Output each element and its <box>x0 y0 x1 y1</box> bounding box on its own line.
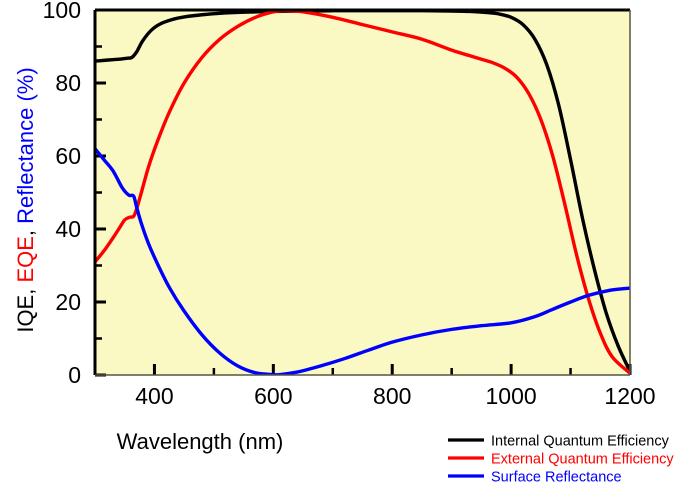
y-tick-label: 20 <box>55 289 81 315</box>
chart-canvas: 020406080100 40060080010001200 IQE, EQE,… <box>0 0 689 487</box>
legend-label-0: Internal Quantum Efficiency <box>491 434 670 450</box>
y-axis-title-segment-0: IQE <box>13 295 38 333</box>
plot-background <box>95 10 630 375</box>
x-axis-title: Wavelength (nm) <box>117 429 284 454</box>
x-tick-label: 1200 <box>604 383 655 409</box>
y-tick-label: 80 <box>55 70 81 96</box>
y-tick-label: 100 <box>43 0 81 23</box>
legend-label-1: External Quantum Efficiency <box>491 452 674 468</box>
y-axis-title: IQE, EQE, Reflectance (%) <box>13 67 38 332</box>
y-axis-title-segment-2: EQE <box>13 236 38 282</box>
x-tick-label: 1000 <box>486 383 537 409</box>
x-tick-label: 800 <box>373 383 411 409</box>
legend-label-2: Surface Reflectance <box>491 470 622 486</box>
y-axis-title-segment-3: , <box>13 224 38 236</box>
y-tick-label: 0 <box>68 362 81 388</box>
x-tick-label: 400 <box>135 383 173 409</box>
y-axis-title-text: IQE, EQE, Reflectance (%) <box>13 67 38 332</box>
chart-figure: 020406080100 40060080010001200 IQE, EQE,… <box>0 0 689 487</box>
y-axis-title-segment-4: Reflectance (%) <box>13 67 38 224</box>
y-tick-label: 60 <box>55 143 81 169</box>
y-axis-title-segment-1: , <box>13 283 38 295</box>
y-tick-label: 40 <box>55 216 81 242</box>
x-tick-label: 600 <box>254 383 292 409</box>
